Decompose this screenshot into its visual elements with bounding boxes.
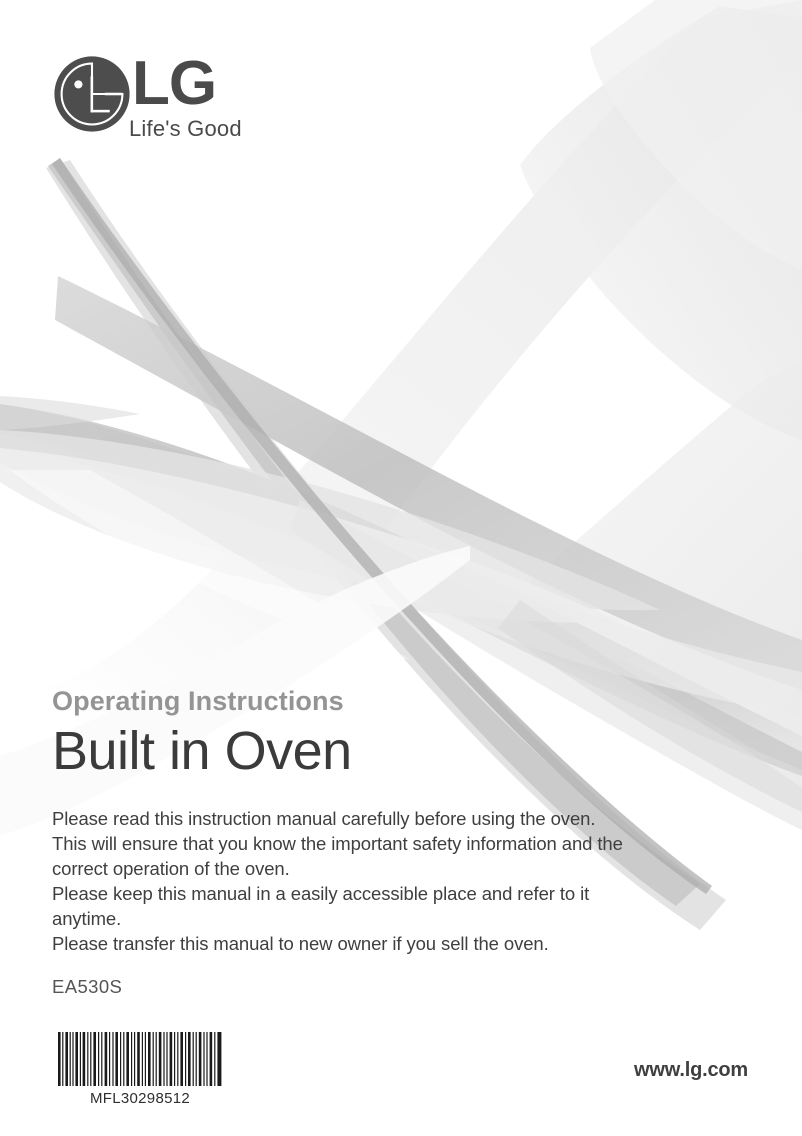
lg-logo: LG Life's Good	[52, 52, 312, 152]
document-kicker: Operating Instructions	[52, 684, 752, 718]
document-cover-page: LG Life's Good Operating Instructions Bu…	[0, 0, 802, 1136]
lg-face-logo-icon	[52, 54, 132, 134]
barcode-block: MFL30298512	[57, 1032, 227, 1108]
model-number: EA530S	[52, 975, 122, 999]
intro-line: anytime.	[52, 906, 752, 931]
intro-line: This will ensure that you know the impor…	[52, 831, 752, 856]
title-block: Operating Instructions Built in Oven	[52, 684, 752, 782]
abstract-ribbon-swoosh-graphic	[0, 0, 802, 1136]
intro-line: Please transfer this manual to new owner…	[52, 931, 752, 956]
lg-wordmark: LG	[132, 53, 216, 115]
intro-line: correct operation of the oven.	[52, 856, 752, 881]
intro-paragraph: Please read this instruction manual care…	[52, 806, 752, 956]
intro-line: Please keep this manual in a easily acce…	[52, 881, 752, 906]
page-title: Built in Oven	[52, 720, 752, 782]
lg-tagline: Life's Good	[129, 116, 242, 142]
barcode-label: MFL30298512	[57, 1090, 223, 1108]
intro-line: Please read this instruction manual care…	[52, 806, 752, 831]
barcode-icon	[57, 1032, 223, 1086]
website-url: www.lg.com	[634, 1058, 748, 1082]
